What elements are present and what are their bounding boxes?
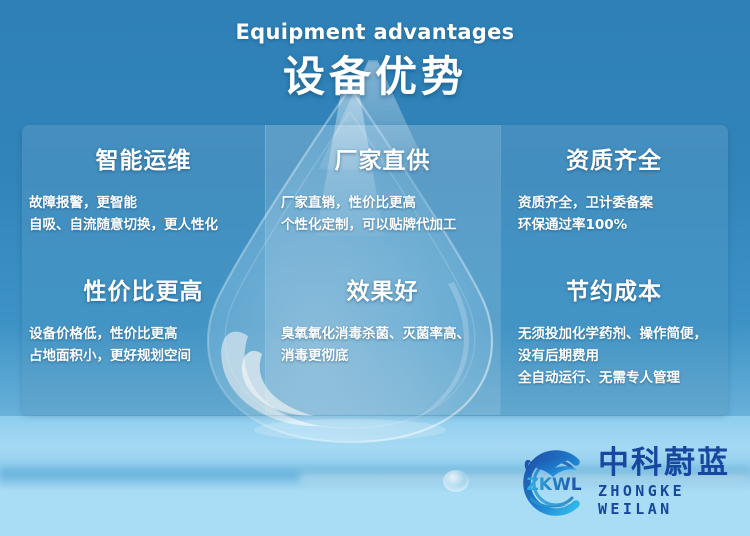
advantage-lines: 臭氧氧化消毒杀菌、灭菌率高、 消毒更彻底: [265, 304, 500, 367]
advantage-cell-factory-direct: 厂家直供 厂家直销，性价比更高 个性化定制，可以贴牌代加工: [265, 125, 500, 265]
advantage-lines: 厂家直销，性价比更高 个性化定制，可以贴牌代加工: [265, 173, 500, 236]
advantage-cell-cost-saving: 节约成本 无须投加化学药剂、操作简便， 没有后期费用 全自动运行、无需专人管理: [500, 265, 728, 415]
advantage-line: 设备价格低，性价比更高: [29, 323, 265, 345]
advantage-lines: 设备价格低，性价比更高 占地面积小，更好规划空间: [22, 304, 265, 367]
advantage-title: 资质齐全: [500, 150, 728, 173]
advantage-lines: 无须投加化学药剂、操作简便， 没有后期费用 全自动运行、无需专人管理: [500, 304, 728, 389]
advantage-cell-effectiveness: 效果好 臭氧氧化消毒杀菌、灭菌率高、 消毒更彻底: [265, 265, 500, 415]
dolphin-circle-logo-icon: ZKWL: [514, 448, 594, 518]
logo-name-en: ZHONGKE WEILAN: [598, 482, 746, 518]
small-water-droplet-icon: [443, 470, 469, 492]
advantage-line: 个性化定制，可以贴牌代加工: [281, 214, 500, 236]
advantage-title: 效果好: [265, 281, 500, 304]
advantage-lines: 故障报警，更智能 自吸、自流随意切换，更人性化: [22, 173, 265, 236]
advantage-line: 没有后期费用: [518, 345, 728, 367]
advantage-line: 自吸、自流随意切换，更人性化: [29, 214, 265, 236]
advantage-title: 智能运维: [22, 150, 265, 173]
advantage-line: 厂家直销，性价比更高: [281, 192, 500, 214]
advantage-cell-qualifications: 资质齐全 资质齐全，卫计委备案 环保通过率100%: [500, 125, 728, 265]
header-title-cn: 设备优势: [0, 55, 750, 99]
advantage-line: 全自动运行、无需专人管理: [518, 367, 728, 389]
advantage-title: 厂家直供: [265, 150, 500, 173]
header-title-en: Equipment advantages: [0, 20, 750, 44]
page-header: Equipment advantages 设备优势: [0, 0, 750, 99]
logo-wordmark: 中科蔚蓝 ZHONGKE WEILAN: [598, 448, 746, 518]
advantage-line: 无须投加化学药剂、操作简便，: [518, 323, 728, 345]
advantage-line: 臭氧氧化消毒杀菌、灭菌率高、: [281, 323, 500, 345]
advantages-panel: 智能运维 故障报警，更智能 自吸、自流随意切换，更人性化 厂家直供 厂家直销，性…: [22, 125, 728, 415]
advantage-cell-intelligent-ops: 智能运维 故障报警，更智能 自吸、自流随意切换，更人性化: [22, 125, 265, 265]
advantage-title: 节约成本: [500, 281, 728, 304]
advantage-lines: 资质齐全，卫计委备案 环保通过率100%: [500, 173, 728, 236]
advantage-line: 环保通过率100%: [518, 214, 728, 236]
advantage-line: 占地面积小，更好规划空间: [29, 345, 265, 367]
advantage-line: 资质齐全，卫计委备案: [518, 192, 728, 214]
advantage-title: 性价比更高: [22, 281, 265, 304]
advantage-cell-cost-performance: 性价比更高 设备价格低，性价比更高 占地面积小，更好规划空间: [22, 265, 265, 415]
advantages-grid: 智能运维 故障报警，更智能 自吸、自流随意切换，更人性化 厂家直供 厂家直销，性…: [22, 125, 728, 415]
advantage-line: 故障报警，更智能: [29, 192, 265, 214]
company-logo: ZKWL 中科蔚蓝 ZHONGKE WEILAN: [514, 446, 746, 520]
logo-name-cn: 中科蔚蓝: [598, 448, 746, 480]
advantage-line: 消毒更彻底: [281, 345, 500, 367]
svg-text:ZKWL: ZKWL: [526, 475, 581, 495]
poster-canvas: Equipment advantages 设备优势 智能运维 故障报警，更智能 …: [0, 0, 750, 536]
